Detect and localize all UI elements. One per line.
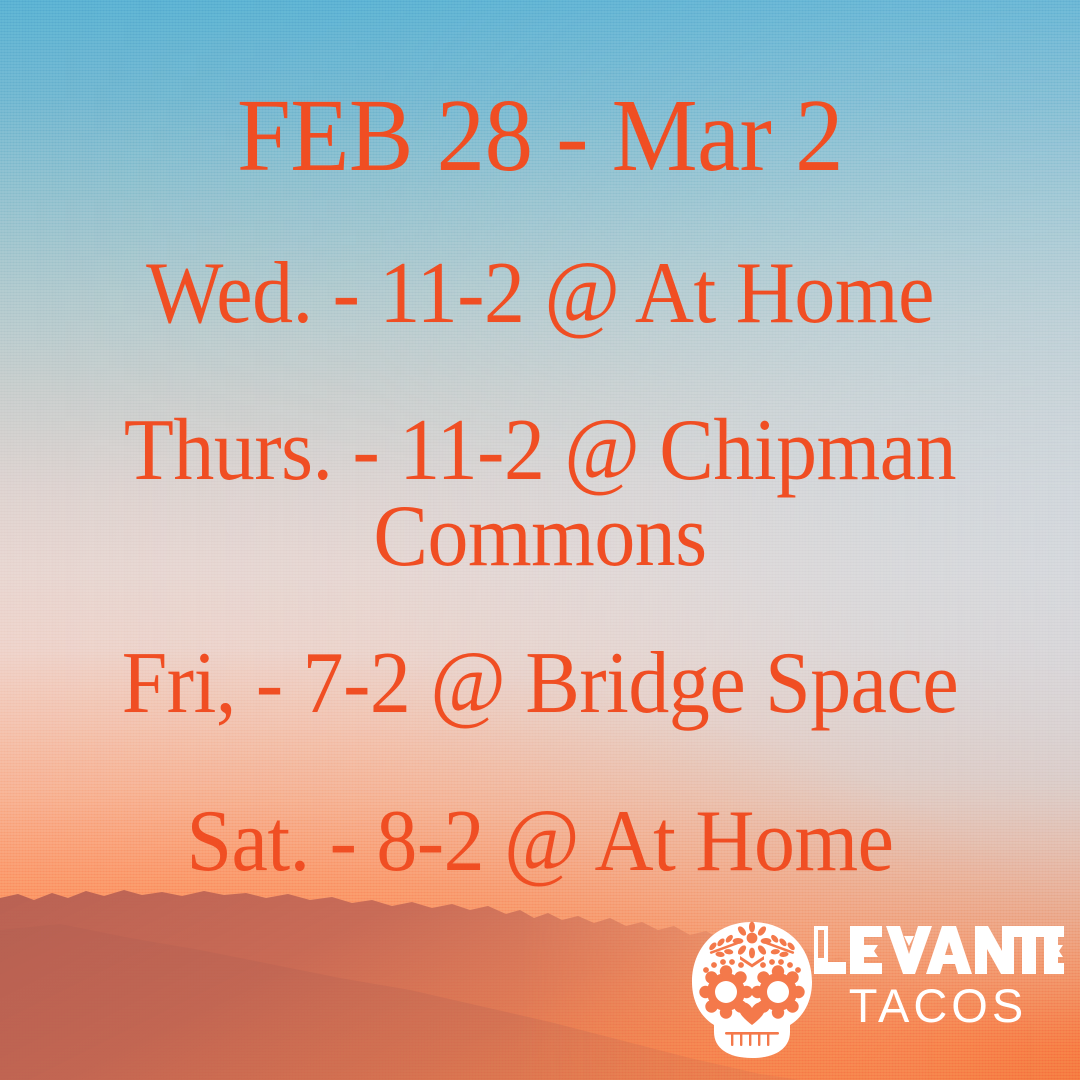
brand-logo: TACOS: [684, 916, 1064, 1068]
logo-wordmark-group: TACOS: [812, 924, 1064, 1029]
poster-title: FEB 28 - Mar 2: [38, 84, 1042, 188]
logo-levante-wordmark: [812, 924, 1064, 976]
schedule-entry-sat: Sat. - 8-2 @ At Home: [38, 798, 1042, 886]
logo-tagline: TACOS: [812, 982, 1064, 1029]
schedule-entry-wed: Wed. - 11-2 @ At Home: [38, 250, 1042, 338]
sugar-skull-icon: [684, 920, 820, 1060]
poster-canvas: FEB 28 - Mar 2 Wed. - 11-2 @ At Home Thu…: [0, 0, 1080, 1080]
schedule-entry-fri: Fri, - 7-2 @ Bridge Space: [38, 640, 1042, 728]
schedule-entry-thu: Thurs. - 11-2 @ Chipman Commons: [38, 408, 1042, 580]
